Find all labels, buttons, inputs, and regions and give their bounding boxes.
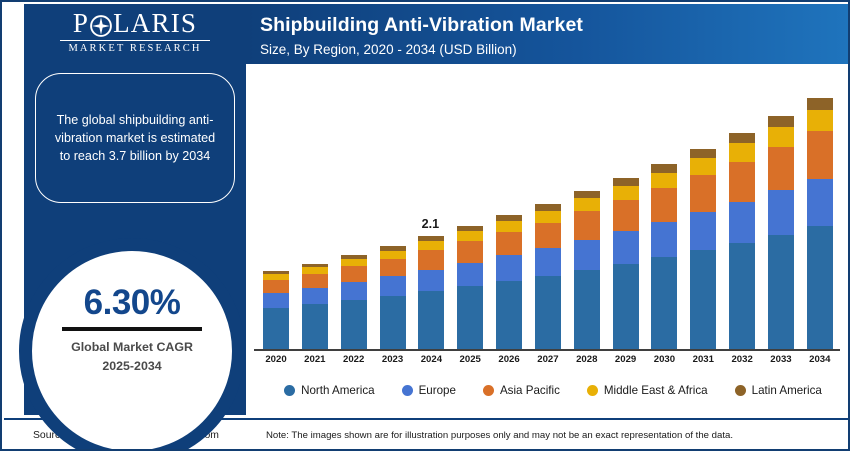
bar-segment-europe xyxy=(807,179,833,227)
bar-segment-asia-pacific xyxy=(613,200,639,231)
bar-group: 2.1 xyxy=(262,72,834,349)
x-tick-2021: 2021 xyxy=(301,354,329,365)
bar-column-2031[interactable] xyxy=(689,72,717,349)
bar-column-2029[interactable] xyxy=(612,72,640,349)
legend-item-europe[interactable]: Europe xyxy=(402,384,456,397)
bar-segment-europe xyxy=(380,276,406,296)
bar-segment-europe xyxy=(574,240,600,270)
bar-column-2025[interactable] xyxy=(456,72,484,349)
bar-segment-north-america xyxy=(418,291,444,349)
cagr-label: Global Market CAGR 2025-2034 xyxy=(71,338,193,375)
bar-stack xyxy=(341,255,367,349)
bar-segment-asia-pacific xyxy=(418,250,444,270)
logo-wordmark: P LARIS xyxy=(73,10,197,37)
bar-segment-north-america xyxy=(690,250,716,349)
bar-segment-europe xyxy=(768,190,794,235)
bar-stack xyxy=(418,236,444,349)
bar-column-2024[interactable]: 2.1 xyxy=(417,72,445,349)
legend-item-middle-east-africa[interactable]: Middle East & Africa xyxy=(587,384,708,397)
bar-segment-north-america xyxy=(341,300,367,349)
bar-stack xyxy=(457,226,483,349)
bar-segment-asia-pacific xyxy=(263,280,289,293)
page-title: Shipbuilding Anti-Vibration Market xyxy=(260,13,850,37)
chart-header: Shipbuilding Anti-Vibration Market Size,… xyxy=(246,4,850,64)
logo-divider xyxy=(60,40,210,41)
bar-segment-latin-america xyxy=(651,164,677,173)
bar-segment-middle-east-africa xyxy=(574,198,600,211)
x-axis-tick-labels: 2020202120222023202420252026202720282029… xyxy=(262,354,834,365)
bar-stack xyxy=(380,246,406,349)
bar-segment-north-america xyxy=(535,276,561,349)
bar-segment-asia-pacific xyxy=(807,131,833,178)
bar-segment-europe xyxy=(690,212,716,250)
bar-column-2020[interactable] xyxy=(262,72,290,349)
bar-value-label: 2.1 xyxy=(400,217,460,231)
legend-swatch-icon xyxy=(284,385,295,396)
bar-segment-europe xyxy=(457,263,483,287)
bar-stack xyxy=(807,98,833,349)
market-callout-text: The global shipbuilding anti-vibration m… xyxy=(48,111,222,166)
cagr-badge: 6.30% Global Market CAGR 2025-2034 xyxy=(19,238,245,451)
bar-segment-middle-east-africa xyxy=(496,221,522,232)
bar-segment-latin-america xyxy=(768,116,794,126)
legend-swatch-icon xyxy=(587,385,598,396)
bar-segment-europe xyxy=(302,288,328,304)
bar-segment-asia-pacific xyxy=(457,241,483,263)
bar-segment-europe xyxy=(341,282,367,300)
compass-star-icon xyxy=(90,15,112,37)
bar-column-2028[interactable] xyxy=(573,72,601,349)
bar-column-2026[interactable] xyxy=(495,72,523,349)
bar-segment-middle-east-africa xyxy=(807,110,833,132)
bar-segment-europe xyxy=(418,270,444,292)
bar-column-2030[interactable] xyxy=(650,72,678,349)
legend-item-latin-america[interactable]: Latin America xyxy=(735,384,822,397)
bar-stack xyxy=(768,116,794,349)
legend-swatch-icon xyxy=(735,385,746,396)
x-tick-2022: 2022 xyxy=(340,354,368,365)
bar-stack xyxy=(496,215,522,349)
x-axis-line xyxy=(254,349,840,351)
bar-segment-asia-pacific xyxy=(690,175,716,212)
bar-segment-europe xyxy=(651,222,677,257)
legend-label: North America xyxy=(301,384,374,397)
logo-text-laris: LARIS xyxy=(113,10,197,37)
bar-segment-latin-america xyxy=(574,191,600,198)
bar-segment-middle-east-africa xyxy=(418,241,444,250)
bar-segment-middle-east-africa xyxy=(380,251,406,259)
bar-segment-middle-east-africa xyxy=(535,211,561,223)
bar-segment-europe xyxy=(535,248,561,276)
bar-stack xyxy=(613,178,639,349)
cagr-divider xyxy=(62,327,202,331)
bar-segment-north-america xyxy=(457,286,483,349)
bar-segment-europe xyxy=(496,255,522,281)
bar-segment-north-america xyxy=(263,308,289,349)
bar-column-2021[interactable] xyxy=(301,72,329,349)
bar-segment-latin-america xyxy=(807,98,833,110)
bar-segment-north-america xyxy=(768,235,794,349)
market-callout-box: The global shipbuilding anti-vibration m… xyxy=(35,73,235,203)
bar-segment-middle-east-africa xyxy=(651,173,677,189)
x-tick-2030: 2030 xyxy=(650,354,678,365)
legend-swatch-icon xyxy=(402,385,413,396)
bar-segment-middle-east-africa xyxy=(729,143,755,161)
bar-column-2032[interactable] xyxy=(728,72,756,349)
bar-segment-latin-america xyxy=(613,178,639,186)
bar-segment-asia-pacific xyxy=(729,162,755,202)
bar-segment-latin-america xyxy=(729,133,755,143)
bar-segment-asia-pacific xyxy=(380,259,406,277)
bar-segment-asia-pacific xyxy=(341,266,367,282)
x-tick-2027: 2027 xyxy=(534,354,562,365)
bar-stack xyxy=(729,133,755,349)
bar-segment-middle-east-africa xyxy=(613,186,639,200)
bar-stack xyxy=(535,204,561,349)
bar-segment-north-america xyxy=(613,264,639,349)
legend-label: Middle East & Africa xyxy=(604,384,708,397)
bar-column-2034[interactable] xyxy=(806,72,834,349)
legend-item-asia-pacific[interactable]: Asia Pacific xyxy=(483,384,560,397)
x-tick-2024: 2024 xyxy=(417,354,445,365)
cagr-value: 6.30% xyxy=(84,285,181,320)
bar-segment-asia-pacific xyxy=(768,147,794,190)
legend-item-north-america[interactable]: North America xyxy=(284,384,374,397)
bar-segment-north-america xyxy=(380,296,406,349)
x-tick-2034: 2034 xyxy=(806,354,834,365)
bar-segment-north-america xyxy=(729,243,755,349)
bar-segment-asia-pacific xyxy=(302,274,328,288)
bar-segment-middle-east-africa xyxy=(768,127,794,147)
logo-tagline: MARKET RESEARCH xyxy=(24,43,246,54)
bar-segment-latin-america xyxy=(690,149,716,158)
disclaimer-note: Note: The images shown are for illustrat… xyxy=(266,430,733,441)
x-tick-2033: 2033 xyxy=(767,354,795,365)
bar-segment-europe xyxy=(729,202,755,243)
bar-segment-north-america xyxy=(651,257,677,349)
chart-container: 2.1 202020212022202320242025202620272028… xyxy=(248,66,850,415)
bar-segment-middle-east-africa xyxy=(457,231,483,241)
legend-label: Asia Pacific xyxy=(500,384,560,397)
bar-segment-north-america xyxy=(496,281,522,349)
x-tick-2032: 2032 xyxy=(728,354,756,365)
bar-segment-middle-east-africa xyxy=(341,259,367,266)
legend-swatch-icon xyxy=(483,385,494,396)
brand-logo: P LARIS MARKET RESEARCH xyxy=(24,10,246,54)
legend-label: Latin America xyxy=(752,384,822,397)
bar-column-2033[interactable] xyxy=(767,72,795,349)
bar-segment-europe xyxy=(263,293,289,308)
bar-segment-europe xyxy=(613,231,639,264)
bar-column-2022[interactable] xyxy=(340,72,368,349)
logo-text-p: P xyxy=(73,10,89,37)
page-subtitle: Size, By Region, 2020 - 2034 (USD Billio… xyxy=(260,42,850,58)
x-tick-2028: 2028 xyxy=(573,354,601,365)
bar-segment-middle-east-africa xyxy=(690,158,716,175)
x-tick-2025: 2025 xyxy=(456,354,484,365)
x-tick-2031: 2031 xyxy=(689,354,717,365)
bar-stack xyxy=(651,164,677,349)
bar-column-2027[interactable] xyxy=(534,72,562,349)
bar-segment-asia-pacific xyxy=(651,188,677,221)
cagr-label-line2: 2025-2034 xyxy=(71,357,193,376)
bar-segment-north-america xyxy=(574,270,600,349)
infographic-root: P LARIS MARKET RESEARCH The global shipb… xyxy=(0,0,850,451)
x-tick-2026: 2026 xyxy=(495,354,523,365)
x-tick-2020: 2020 xyxy=(262,354,290,365)
bar-segment-asia-pacific xyxy=(574,211,600,239)
chart-legend: North AmericaEuropeAsia PacificMiddle Ea… xyxy=(256,384,850,397)
bar-segment-north-america xyxy=(302,304,328,349)
legend-label: Europe xyxy=(419,384,456,397)
bar-segment-asia-pacific xyxy=(496,232,522,256)
bar-stack xyxy=(263,271,289,349)
bar-column-2023[interactable] xyxy=(379,72,407,349)
bar-segment-asia-pacific xyxy=(535,223,561,249)
bar-stack xyxy=(302,264,328,349)
chart-plot-area: 2.1 xyxy=(262,72,834,349)
bar-stack xyxy=(574,191,600,349)
bar-segment-north-america xyxy=(807,226,833,349)
bar-stack xyxy=(690,149,716,349)
x-tick-2029: 2029 xyxy=(612,354,640,365)
cagr-label-line1: Global Market CAGR xyxy=(71,338,193,357)
x-tick-2023: 2023 xyxy=(379,354,407,365)
